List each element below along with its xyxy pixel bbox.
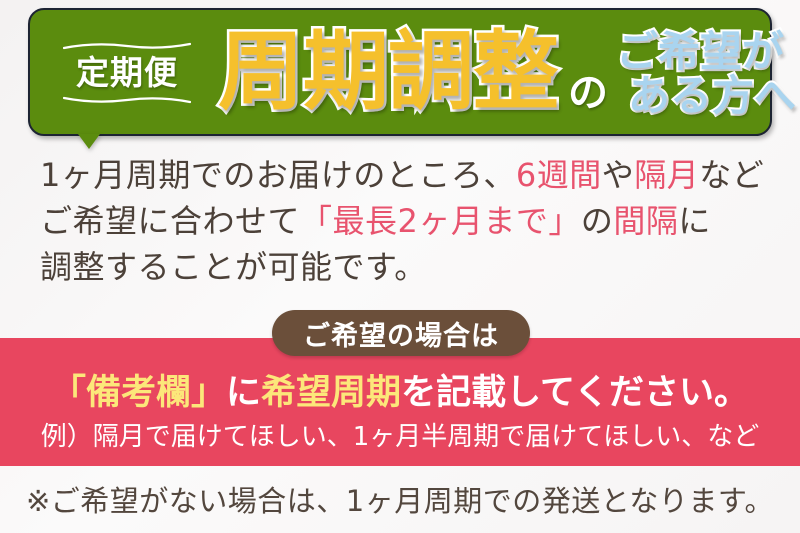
instruction-example-text: 例）隔月で届けてほしい、1ヶ月半周期で届けてほしい、など	[0, 416, 800, 453]
description-line-2-part-5: に	[678, 202, 711, 240]
condition-badge-label: ご希望の場合は	[303, 314, 499, 353]
description-paragraph: 1ヶ月周期でのお届けのところ、6週間や隔月など ご希望に合わせて「最長2ヶ月まで…	[40, 152, 770, 290]
description-line-3: 調整することが可能です。	[40, 244, 770, 290]
instruction-band: 「備考欄」に希望周期を記載してください。 例）隔月で届けてほしい、1ヶ月半周期で…	[0, 338, 800, 466]
description-line-2-part-1: ご希望に合わせて	[40, 202, 300, 240]
instruction-main-text: 「備考欄」に希望周期を記載してください。	[0, 364, 800, 415]
subscription-badge: 定期便	[52, 42, 202, 104]
description-line-2: ご希望に合わせて「最長2ヶ月まで」の間隔に	[40, 198, 770, 244]
header-subtitle-line-2: ある方へ	[628, 74, 796, 118]
description-line-1-accent-2: 隔月	[634, 156, 699, 194]
description-line-1-part-3: や	[602, 156, 635, 194]
header-title: 周期調整	[218, 29, 558, 115]
wave-line-top-icon	[63, 42, 191, 51]
footer-note: ※ご希望がない場合は、1ヶ月周期での発送となります。	[0, 478, 800, 520]
wave-line-bottom-icon	[63, 95, 191, 104]
header-subtitle-line-1: ご希望が	[616, 30, 796, 74]
instruction-particle-1: に	[226, 373, 261, 413]
description-line-1-part-5: など	[699, 156, 764, 194]
description-line-1-accent-1: 6週間	[516, 156, 602, 194]
description-line-2-accent-2: 間隔	[613, 202, 678, 240]
instruction-tail: を記載してください。	[401, 373, 749, 413]
header-subtitle: ご希望が ある方へ	[616, 30, 796, 117]
promo-banner: 定期便 周期調整 の ご希望が ある方へ 1ヶ月周期でのお届けのところ、6週間や…	[0, 0, 800, 533]
description-line-2-highlight: 「最長2ヶ月まで」の間隔	[300, 198, 678, 244]
instruction-highlight-1: 「備考欄」	[51, 373, 226, 413]
condition-badge: ご希望の場合は	[272, 310, 530, 356]
description-line-1: 1ヶ月周期でのお届けのところ、6週間や隔月など	[40, 152, 770, 198]
description-line-2-particle: の	[581, 202, 614, 240]
description-line-2-accent-1: 「最長2ヶ月まで」	[300, 202, 581, 240]
instruction-highlight-2: 希望周期	[261, 373, 401, 413]
description-line-1-part-1: 1ヶ月周期でのお届けのところ、	[40, 156, 516, 194]
header-ribbon-tail-icon	[78, 134, 100, 149]
header-content: 定期便 周期調整 の ご希望が ある方へ	[30, 10, 770, 134]
subscription-badge-label: 定期便	[52, 55, 202, 91]
header-ribbon: 定期便 周期調整 の ご希望が ある方へ	[28, 8, 772, 136]
header-connector: の	[568, 60, 608, 118]
